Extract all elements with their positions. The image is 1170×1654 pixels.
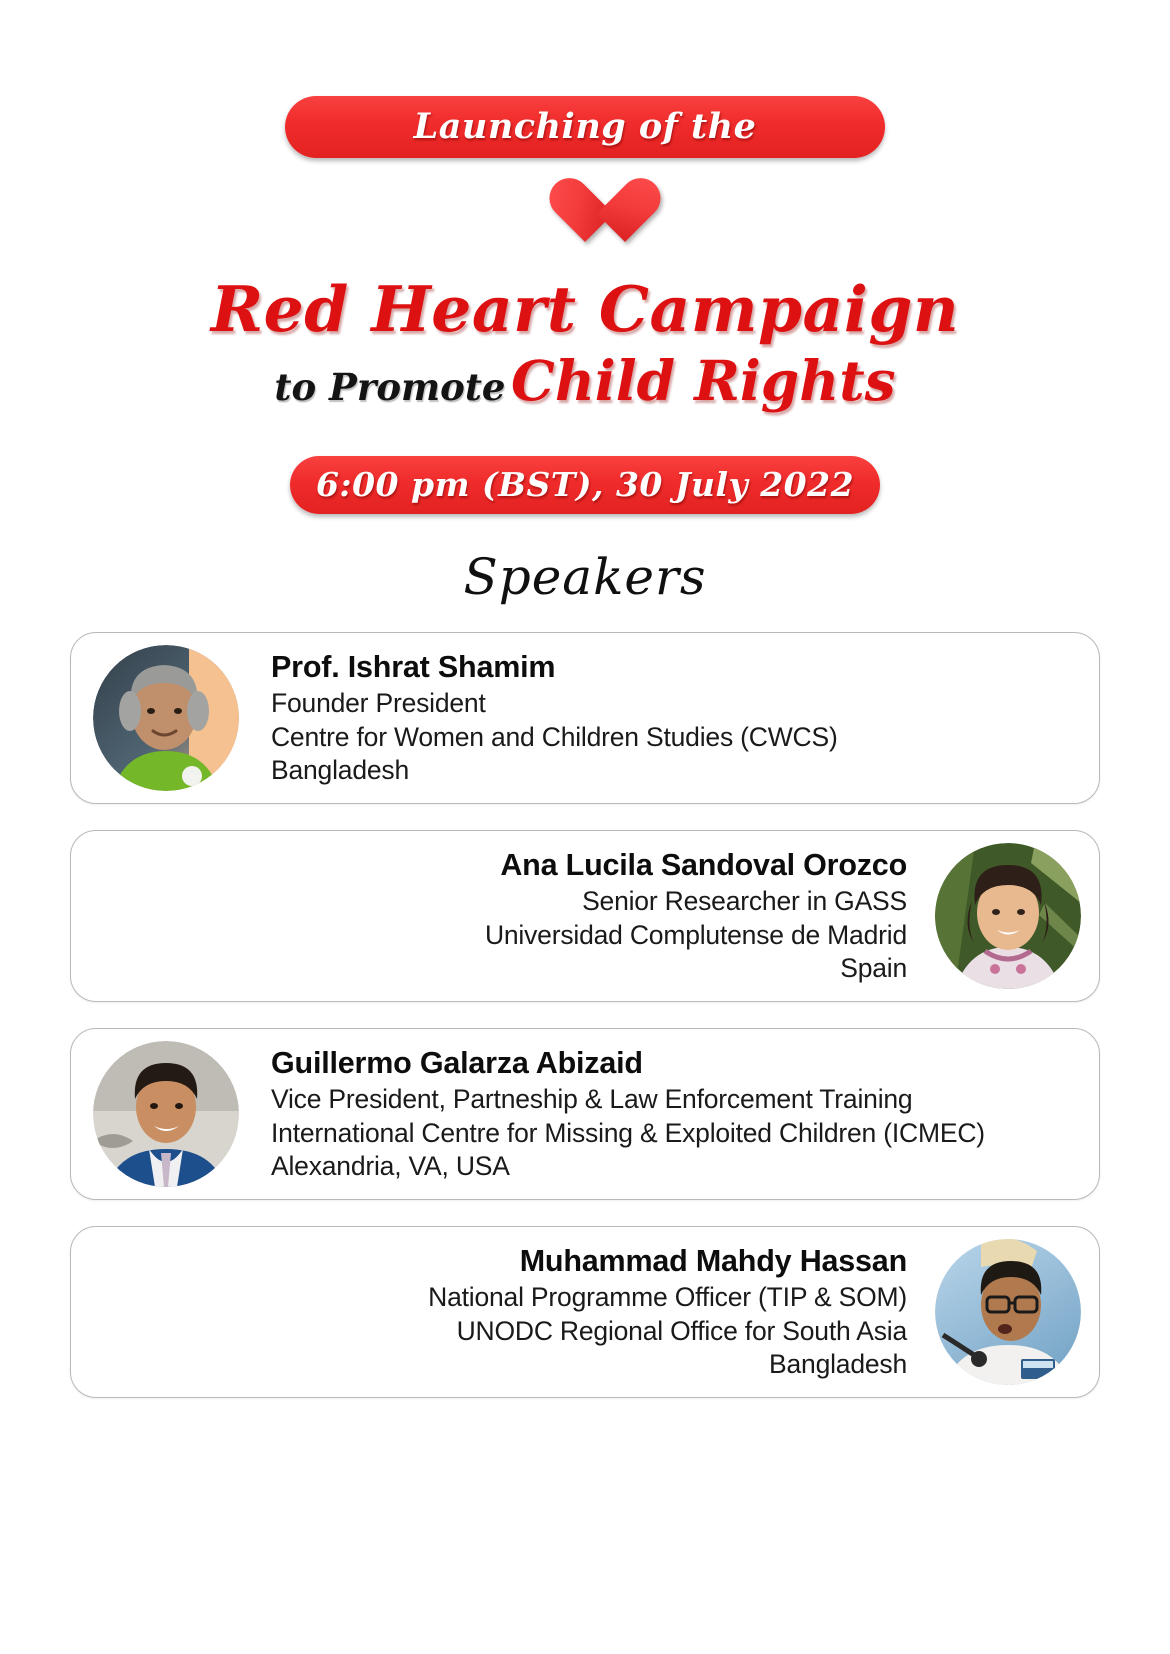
speaker-location: Bangladesh (428, 1348, 907, 1382)
speaker-info: Prof. Ishrat Shamim Founder President Ce… (261, 634, 864, 802)
speaker-name: Prof. Ishrat Shamim (271, 648, 838, 687)
speaker-role: Vice President, Partneship & Law Enforce… (271, 1083, 985, 1117)
speaker-info: Muhammad Mahdy Hassan National Programme… (402, 1228, 917, 1396)
speaker-organization: UNODC Regional Office for South Asia (428, 1315, 907, 1349)
speaker-organization: International Centre for Missing & Explo… (271, 1117, 985, 1151)
speaker-name: Ana Lucila Sandoval Orozco (485, 846, 907, 885)
campaign-title-block: Red Heart Campaign to Promote Child Righ… (0, 278, 1170, 408)
speaker-card: Ana Lucila Sandoval Orozco Senior Resear… (70, 830, 1100, 1002)
campaign-title: Red Heart Campaign (0, 278, 1170, 341)
speaker-role: Senior Researcher in GASS (485, 885, 907, 919)
speaker-location: Spain (485, 952, 907, 986)
launch-banner: Launching of the (285, 96, 885, 158)
campaign-subtitle: to Promote Child Rights (0, 353, 1170, 408)
campaign-subtitle-highlight: Child Rights (511, 348, 896, 413)
speaker-role: National Programme Officer (TIP & SOM) (428, 1281, 907, 1315)
speaker-info: Guillermo Galarza Abizaid Vice President… (261, 1030, 1011, 1198)
speakers-heading: Speakers (0, 548, 1170, 606)
speaker-location: Bangladesh (271, 754, 838, 788)
launch-banner-row: Launching of the (0, 0, 1170, 158)
speaker-card: Muhammad Mahdy Hassan National Programme… (70, 1226, 1100, 1398)
speaker-organization: Centre for Women and Children Studies (C… (271, 721, 838, 755)
date-banner-row: 6:00 pm (BST), 30 July 2022 (0, 456, 1170, 514)
avatar (935, 1239, 1081, 1385)
speaker-name: Muhammad Mahdy Hassan (428, 1242, 907, 1281)
speaker-card: Guillermo Galarza Abizaid Vice President… (70, 1028, 1100, 1200)
event-poster: Launching of the Red Heart Campaign to P… (0, 0, 1170, 1654)
speaker-name: Guillermo Galarza Abizaid (271, 1044, 985, 1083)
speaker-card: Prof. Ishrat Shamim Founder President Ce… (70, 632, 1100, 804)
speaker-info: Ana Lucila Sandoval Orozco Senior Resear… (459, 832, 917, 1000)
portrait-ana-lucila-sandoval-orozco (935, 843, 1081, 989)
avatar (93, 1041, 239, 1187)
avatar (935, 843, 1081, 989)
heart-icon (546, 180, 624, 252)
portrait-ishrat-shamim (93, 645, 239, 791)
portrait-muhammad-mahdy-hassan (935, 1239, 1081, 1385)
heart-icon-row (0, 180, 1170, 252)
portrait-guillermo-galarza-abizaid (93, 1041, 239, 1187)
speaker-role: Founder President (271, 687, 838, 721)
date-banner: 6:00 pm (BST), 30 July 2022 (290, 456, 880, 514)
speakers-list: Prof. Ishrat Shamim Founder President Ce… (0, 632, 1170, 1398)
campaign-subtitle-prefix: to Promote (274, 365, 505, 409)
speaker-organization: Universidad Complutense de Madrid (485, 919, 907, 953)
avatar (93, 645, 239, 791)
speaker-location: Alexandria, VA, USA (271, 1150, 985, 1184)
